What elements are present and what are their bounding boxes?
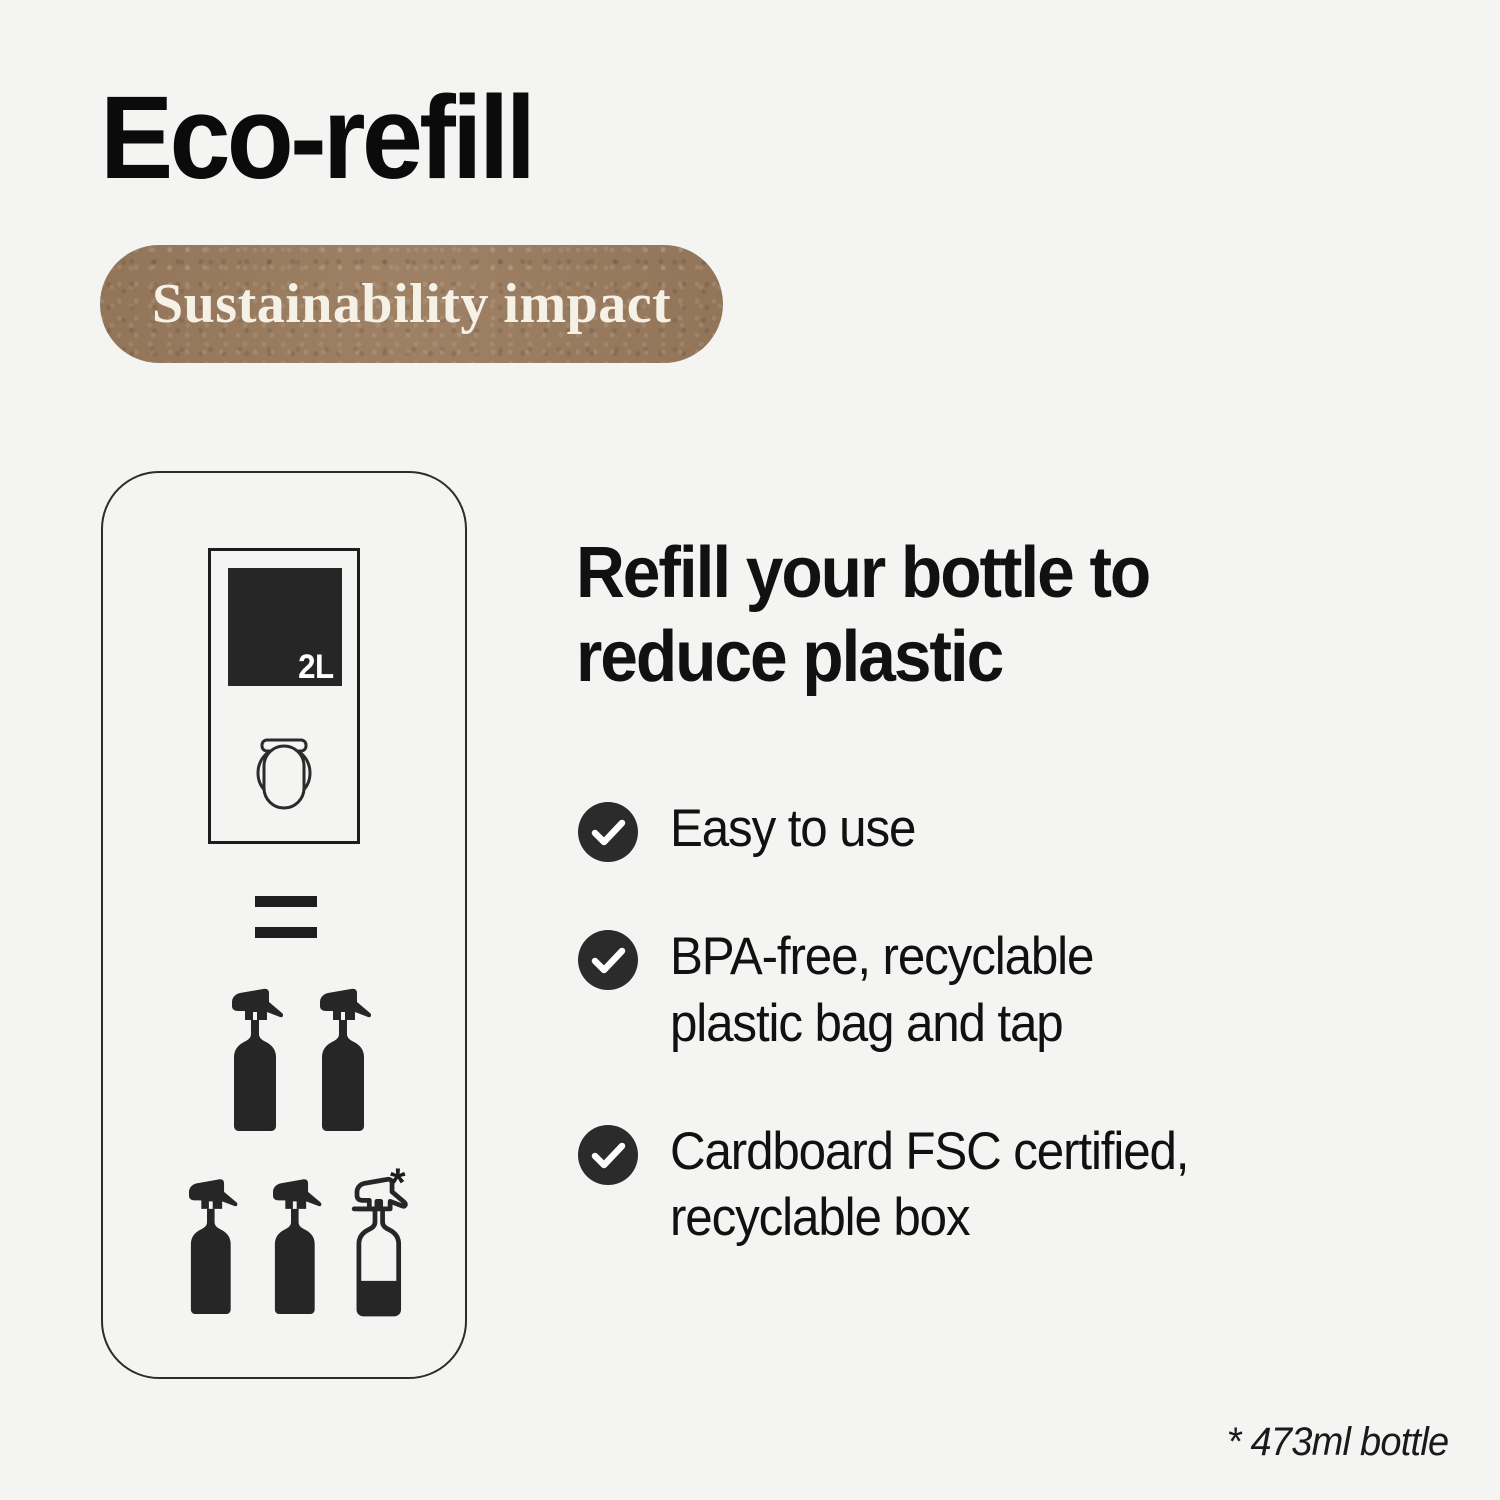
sustainability-impact-badge: Sustainability impact <box>100 245 723 363</box>
feature-label: Cardboard FSC certified, recyclable box <box>670 1119 1188 1252</box>
feature-item: Cardboard FSC certified, recyclable box <box>578 1119 1458 1252</box>
feature-item: Easy to use <box>578 796 1458 862</box>
feature-label: BPA-free, recyclable plastic bag and tap <box>670 924 1093 1057</box>
check-icon <box>578 802 638 862</box>
spray-bottle-icon <box>213 980 289 1132</box>
feature-label: Easy to use <box>670 796 915 862</box>
equals-bar-top <box>255 896 317 907</box>
tap-spigot-icon <box>247 718 321 810</box>
footnote: * 473ml bottle <box>1226 1422 1448 1462</box>
refill-box-label-swatch: 2L <box>228 568 342 686</box>
feature-list: Easy to use BPA-free, recyclable plastic… <box>578 796 1458 1251</box>
bottle-footnote-asterisk: * <box>390 1163 406 1203</box>
equals-bar-bottom <box>255 927 317 938</box>
bottle-row-lower <box>171 1168 411 1318</box>
check-icon <box>578 1125 638 1185</box>
bottle-row-upper <box>213 980 377 1132</box>
feature-item: BPA-free, recyclable plastic bag and tap <box>578 924 1458 1057</box>
spray-bottle-icon <box>255 1168 327 1318</box>
sustainability-impact-badge-label: Sustainability impact <box>152 276 671 332</box>
check-icon <box>578 930 638 990</box>
spray-bottle-icon <box>301 980 377 1132</box>
content-heading-line-2: reduce plastic <box>576 617 1002 697</box>
refill-box-volume-label: 2L <box>298 650 334 684</box>
content-column: Refill your bottle toreduce plastic Easy… <box>576 531 1456 699</box>
spray-bottle-icon <box>171 1168 243 1318</box>
content-heading: Refill your bottle toreduce plastic <box>576 531 1403 699</box>
equals-sign-icon <box>255 896 317 940</box>
content-heading-line-1: Refill your bottle to <box>576 533 1149 613</box>
eco-refill-infographic: Eco-refill Sustainability impact 2L <box>0 0 1500 1500</box>
page-title: Eco-refill <box>100 78 532 198</box>
